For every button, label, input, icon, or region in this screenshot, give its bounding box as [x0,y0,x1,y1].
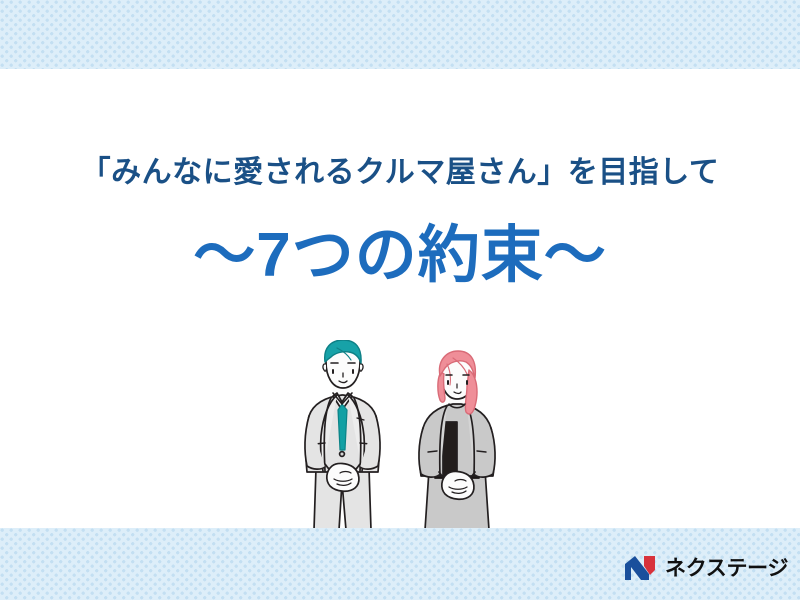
male-staff-figure [305,340,380,530]
top-dot-band [0,0,800,69]
nextage-n-mark-icon [624,555,658,581]
female-staff-figure [419,351,495,530]
nextage-logo-text: ネクステージ [665,558,788,579]
nextage-logo: ネクステージ [624,553,788,583]
headline-text: 〜7つの約束〜 [0,222,800,290]
two-staff-bowing-illustration [285,340,525,535]
tagline-text: 「みんなに愛されるクルマ屋さん」を目指して [0,155,800,190]
nextage-promise-banner: 「みんなに愛されるクルマ屋さん」を目指して 〜7つの約束〜 [0,0,800,600]
